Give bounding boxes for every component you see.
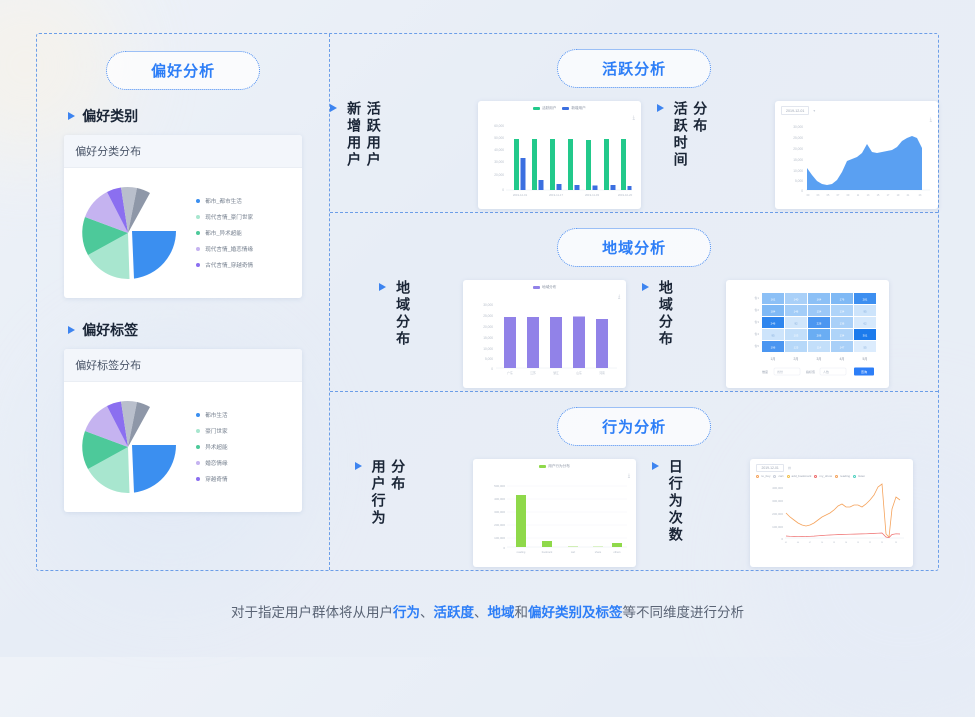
svg-text:指标值: 指标值 — [806, 369, 815, 374]
vertical-label: 日行为次数 — [668, 459, 683, 544]
svg-text:04: 04 — [797, 542, 800, 544]
date-filter[interactable]: 2019-12-01 — [756, 464, 783, 472]
svg-text:省4: 省4 — [754, 331, 759, 336]
legend-item: 都市生活 — [196, 411, 227, 419]
svg-text:维度: 维度 — [762, 369, 768, 374]
legend-label: 异术超能 — [205, 443, 227, 451]
svg-text:江苏: 江苏 — [530, 371, 536, 375]
svg-text:164: 164 — [817, 298, 822, 302]
caption-part: 对于指定用户群体将从用户 — [231, 605, 393, 620]
legend-label: 现代言情_婚恋情缘 — [205, 245, 253, 253]
download-icon[interactable]: ⤓ — [930, 117, 932, 123]
card-title: 偏好分类分布 — [64, 135, 302, 168]
svg-text:125: 125 — [794, 346, 799, 350]
vertical-label: 地域分布 — [658, 280, 673, 348]
svg-text:281: 281 — [863, 298, 868, 302]
caption-highlight: 偏好类别及标签 — [528, 605, 623, 620]
svg-text:15,000: 15,000 — [793, 158, 803, 162]
svg-text:0: 0 — [782, 537, 784, 541]
chart-heatmap-region: 省1省2省3 省4省5 16114016417 — [726, 280, 889, 388]
svg-text:500,000: 500,000 — [494, 484, 505, 488]
legend-label: 婚恋情缘 — [205, 459, 227, 467]
legend-label: 地域分布 — [542, 285, 556, 290]
svg-text:11: 11 — [857, 194, 860, 197]
svg-text:2019-12-01: 2019-12-01 — [513, 193, 528, 197]
chart-legend: 用户行为分布 — [479, 464, 630, 469]
svg-text:200,000: 200,000 — [494, 523, 505, 527]
heading-preference-category: 偏好类别 — [68, 106, 302, 126]
triangle-bullet-icon — [652, 462, 659, 470]
svg-text:1月: 1月 — [770, 357, 775, 361]
legend-item: 现代言情_豪门世家 — [196, 213, 253, 221]
caption-part: 和 — [515, 605, 529, 620]
svg-text:206: 206 — [817, 334, 822, 338]
svg-text:17: 17 — [887, 194, 890, 197]
svg-text:01: 01 — [785, 542, 788, 544]
legend-item: 异术超能 — [196, 443, 227, 451]
svg-text:share: share — [595, 550, 602, 554]
svg-text:21: 21 — [907, 194, 910, 197]
item-region-distribution-bar: 地域分布 地域分布 ⤓ 30,00025,000 20,00015,000 10… — [379, 280, 626, 388]
svg-text:10: 10 — [821, 542, 824, 544]
chart-legend: 活跃用户 新增用户 — [484, 106, 635, 111]
svg-text:2019-10-20: 2019-10-20 — [618, 193, 633, 197]
section-region: 地域分析 地域分布 地域分布 ⤓ 30,00025,000 — [330, 213, 938, 392]
vertical-label: 活跃用户 — [366, 101, 381, 169]
svg-text:2019-11-03: 2019-11-03 — [585, 193, 600, 197]
svg-text:reading: reading — [517, 550, 526, 554]
svg-text:146: 146 — [794, 310, 799, 314]
svg-text:196: 196 — [771, 346, 776, 350]
svg-text:25: 25 — [881, 542, 884, 544]
svg-text:30,000: 30,000 — [793, 125, 803, 129]
svg-text:查询: 查询 — [861, 369, 867, 374]
legend-item: 古代言情_穿越奇情 — [196, 261, 253, 269]
svg-text:40,000: 40,000 — [494, 148, 504, 152]
svg-text:134: 134 — [840, 310, 845, 314]
svg-text:100,000: 100,000 — [773, 525, 784, 529]
item-user-behavior-distribution: 用户行为 分布 用户行为分布 ⤓ — [355, 459, 636, 567]
svg-text:07: 07 — [809, 542, 812, 544]
svg-text:134: 134 — [840, 334, 845, 338]
svg-text:2月: 2月 — [793, 357, 798, 361]
svg-text:15: 15 — [877, 194, 880, 197]
section-title-preference: 偏好分析 — [106, 51, 260, 90]
triangle-bullet-icon — [68, 112, 75, 120]
block-preference-tag: 偏好标签 偏好标签分布 — [64, 320, 302, 512]
svg-text:22: 22 — [869, 542, 872, 544]
right-column: 活跃分析 新增用户 活跃用户 活跃用户 新增用户 ⤓ — [330, 34, 938, 570]
card-title: 偏好标签分布 — [64, 349, 302, 382]
svg-text:省1: 省1 — [754, 295, 759, 300]
svg-text:20,000: 20,000 — [793, 147, 803, 151]
triangle-bullet-icon — [642, 283, 649, 291]
section-preference: 偏好分析 偏好类别 偏好分类分布 — [37, 34, 330, 570]
block-preference-category: 偏好类别 偏好分类分布 — [64, 106, 302, 298]
caption: 对于指定用户群体将从用户行为、活跃度、地域和偏好类别及标签等不同维度进行分析 — [0, 601, 975, 621]
svg-text:09: 09 — [847, 194, 850, 197]
svg-text:10,000: 10,000 — [483, 347, 493, 351]
section-title-behavior: 行为分析 — [557, 407, 711, 446]
svg-text:省份: 省份 — [777, 369, 783, 374]
legend-label: 古代言情_穿越奇情 — [205, 261, 253, 269]
legend-label: 用户行为分布 — [548, 464, 570, 469]
svg-text:23: 23 — [919, 194, 922, 197]
legend-label: 现代言情_豪门世家 — [205, 213, 253, 221]
svg-text:301: 301 — [863, 334, 868, 338]
legend-label: 都市_都市生活 — [205, 197, 242, 205]
triangle-bullet-icon — [657, 104, 664, 112]
svg-text:50,000: 50,000 — [494, 136, 504, 140]
svg-text:省2: 省2 — [754, 307, 759, 312]
svg-text:29: 29 — [895, 542, 898, 544]
chart-bar-region: 地域分布 ⤓ 30,00025,000 20,00015,000 10,0005… — [463, 280, 626, 388]
svg-text:5,000: 5,000 — [795, 179, 803, 183]
legend-label: 都市生活 — [205, 411, 227, 419]
svg-text:25,000: 25,000 — [793, 136, 803, 140]
svg-text:100,000: 100,000 — [494, 536, 505, 540]
svg-text:60,000: 60,000 — [494, 124, 504, 128]
legend-label: 活跃用户 — [542, 106, 556, 111]
svg-text:00: 00 — [807, 194, 810, 197]
svg-text:07: 07 — [837, 194, 840, 197]
svg-text:3月: 3月 — [816, 357, 821, 361]
legend-label: 穿越奇情 — [205, 475, 227, 483]
svg-text:others: others — [613, 550, 621, 554]
legend-item: 婚恋情缘 — [196, 459, 227, 467]
svg-text:13: 13 — [833, 542, 836, 544]
download-icon[interactable]: ⤓ — [628, 473, 630, 479]
chart-area-active-time: 2019-12-01 ▾ ⤓ 30,00025,000 20,00015,000… — [775, 101, 938, 209]
item-new-active-users: 新增用户 活跃用户 活跃用户 新增用户 ⤓ — [330, 101, 641, 209]
caption-highlight: 地域 — [488, 605, 515, 620]
svg-text:0: 0 — [801, 189, 803, 193]
triangle-bullet-icon — [68, 326, 75, 334]
svg-text:19: 19 — [857, 542, 860, 544]
vertical-label: 地域分布 — [395, 280, 410, 348]
card-preference-tag: 偏好标签分布 — [64, 349, 302, 512]
svg-text:10,000: 10,000 — [793, 169, 803, 173]
caption-highlight: 活跃度 — [434, 605, 475, 620]
chart-bar-new-active-users: 活跃用户 新增用户 ⤓ 60,00050,000 40,00030,000 — [478, 101, 641, 209]
svg-text:136: 136 — [840, 322, 845, 326]
chart-line-daily-behavior: 2019-12-01 ▤ to_buy cart add_bookmark my… — [750, 459, 913, 567]
caption-highlight: 行为 — [393, 605, 420, 620]
svg-text:400,000: 400,000 — [773, 486, 784, 490]
item-daily-behavior-count: 日行为次数 2019-12-01 ▤ to_buy cart add_bookm… — [652, 459, 913, 567]
svg-text:55: 55 — [863, 346, 867, 350]
legend-item: 穿越奇情 — [196, 475, 227, 483]
svg-text:bookrack: bookrack — [542, 550, 553, 554]
date-filter[interactable]: 2019-12-01 — [781, 106, 809, 115]
legend-label[interactable]: add_bookmark — [792, 474, 812, 478]
heading-preference-tag: 偏好标签 — [68, 320, 302, 340]
section-title-region: 地域分析 — [557, 228, 711, 267]
svg-text:30,000: 30,000 — [494, 160, 504, 164]
svg-text:山东: 山东 — [576, 371, 582, 375]
legend-label: 豪门世家 — [205, 427, 227, 435]
svg-text:114: 114 — [817, 346, 822, 350]
svg-text:184: 184 — [771, 310, 776, 314]
chart-legend: to_buy cart add_bookmark my_show reading… — [756, 474, 907, 478]
svg-text:300,000: 300,000 — [773, 499, 784, 503]
svg-text:20,000: 20,000 — [483, 325, 493, 329]
chart-legend: 地域分布 — [469, 285, 620, 290]
svg-text:省5: 省5 — [754, 343, 759, 348]
svg-text:140: 140 — [794, 298, 799, 302]
legend-item: 现代言情_婚恋情缘 — [196, 245, 253, 253]
svg-text:13: 13 — [867, 194, 870, 197]
svg-text:05: 05 — [827, 194, 830, 197]
svg-text:03: 03 — [817, 194, 820, 197]
svg-text:0: 0 — [502, 188, 504, 192]
svg-text:20,000: 20,000 — [494, 173, 504, 177]
card-preference-category: 偏好分类分布 — [64, 135, 302, 298]
svg-text:92: 92 — [794, 322, 798, 326]
legend-label[interactable]: to_buy — [761, 474, 770, 478]
svg-text:河南: 河南 — [599, 371, 605, 375]
svg-text:300,000: 300,000 — [494, 510, 505, 514]
svg-text:147: 147 — [840, 346, 845, 350]
item-active-time-distribution: 活跃时间 分布 2019-12-01 ▾ ⤓ 30,00025,000 20,0 — [657, 101, 938, 209]
svg-text:154: 154 — [817, 310, 822, 314]
download-icon[interactable]: ⤓ — [618, 294, 620, 300]
svg-text:95: 95 — [771, 334, 775, 338]
caption-part: 等不同维度进行分析 — [623, 605, 745, 620]
legend-label[interactable]: reading — [840, 474, 850, 478]
svg-text:省3: 省3 — [754, 319, 759, 324]
pie-chart-category — [72, 177, 190, 289]
triangle-bullet-icon — [379, 283, 386, 291]
legend-item: 豪门世家 — [196, 427, 227, 435]
svg-text:16: 16 — [845, 542, 848, 544]
vertical-label: 分布 — [391, 459, 406, 527]
svg-text:广东: 广东 — [507, 371, 513, 375]
svg-text:228: 228 — [817, 322, 822, 326]
svg-text:cart: cart — [571, 550, 576, 554]
svg-text:2019-11-17: 2019-11-17 — [549, 193, 564, 197]
heading-label: 偏好类别 — [82, 106, 138, 126]
download-icon[interactable]: ⤓ — [633, 115, 635, 121]
svg-text:246: 246 — [771, 322, 776, 326]
svg-text:人数: 人数 — [823, 369, 829, 374]
svg-text:200,000: 200,000 — [773, 512, 784, 516]
svg-text:30,000: 30,000 — [483, 303, 493, 307]
vertical-label: 新增用户 — [346, 101, 361, 169]
vertical-label: 活跃时间 — [673, 101, 688, 169]
svg-text:4月: 4月 — [839, 357, 844, 361]
diagram-frame: 偏好分析 偏好类别 偏好分类分布 — [36, 33, 939, 571]
legend-label[interactable]: cart — [778, 474, 783, 478]
triangle-bullet-icon — [355, 462, 362, 470]
svg-text:400,000: 400,000 — [494, 497, 505, 501]
vertical-label: 分布 — [693, 101, 708, 169]
pie-chart-tag — [72, 391, 190, 503]
svg-text:5,000: 5,000 — [485, 357, 493, 361]
legend-item: 都市_异术超能 — [196, 229, 253, 237]
caption-part: 、 — [474, 605, 488, 620]
triangle-bullet-icon — [330, 104, 337, 112]
svg-text:15,000: 15,000 — [483, 336, 493, 340]
svg-text:25,000: 25,000 — [483, 314, 493, 318]
svg-text:103: 103 — [794, 334, 799, 338]
svg-text:161: 161 — [771, 298, 776, 302]
legend-item: 都市_都市生活 — [196, 197, 253, 205]
caption-part: 、 — [420, 605, 434, 620]
svg-text:95: 95 — [863, 310, 867, 314]
legend-label: 都市_异术超能 — [205, 229, 242, 237]
legend-label: 新增用户 — [571, 106, 585, 111]
chart-bar-user-behavior: 用户行为分布 ⤓ 500,000400,000 — [473, 459, 636, 567]
svg-text:浙江: 浙江 — [553, 371, 559, 375]
vertical-label: 用户行为 — [371, 459, 386, 527]
svg-text:176: 176 — [840, 298, 845, 302]
svg-text:0: 0 — [491, 367, 493, 371]
svg-text:5月: 5月 — [862, 357, 867, 361]
item-region-distribution-heatmap: 地域分布 省1省2省3 省4省5 — [642, 280, 889, 388]
heading-label: 偏好标签 — [82, 320, 138, 340]
legend-label[interactable]: my_show — [819, 474, 832, 478]
svg-text:62: 62 — [863, 322, 867, 326]
section-title-active: 活跃分析 — [557, 49, 711, 88]
svg-text:0: 0 — [503, 546, 505, 550]
pie-legend-category: 都市_都市生活 现代言情_豪门世家 都市_异术超能 现代言情_婚恋情缘 古代言情… — [190, 197, 253, 269]
pie-legend-tag: 都市生活 豪门世家 异术超能 婚恋情缘 穿越奇情 — [190, 411, 227, 483]
section-behavior: 行为分析 用户行为 分布 用户行为分布 ⤓ — [330, 392, 938, 570]
section-active: 活跃分析 新增用户 活跃用户 活跃用户 新增用户 ⤓ — [330, 34, 938, 213]
legend-label[interactable]: listen — [858, 474, 865, 478]
svg-text:19: 19 — [897, 194, 900, 197]
